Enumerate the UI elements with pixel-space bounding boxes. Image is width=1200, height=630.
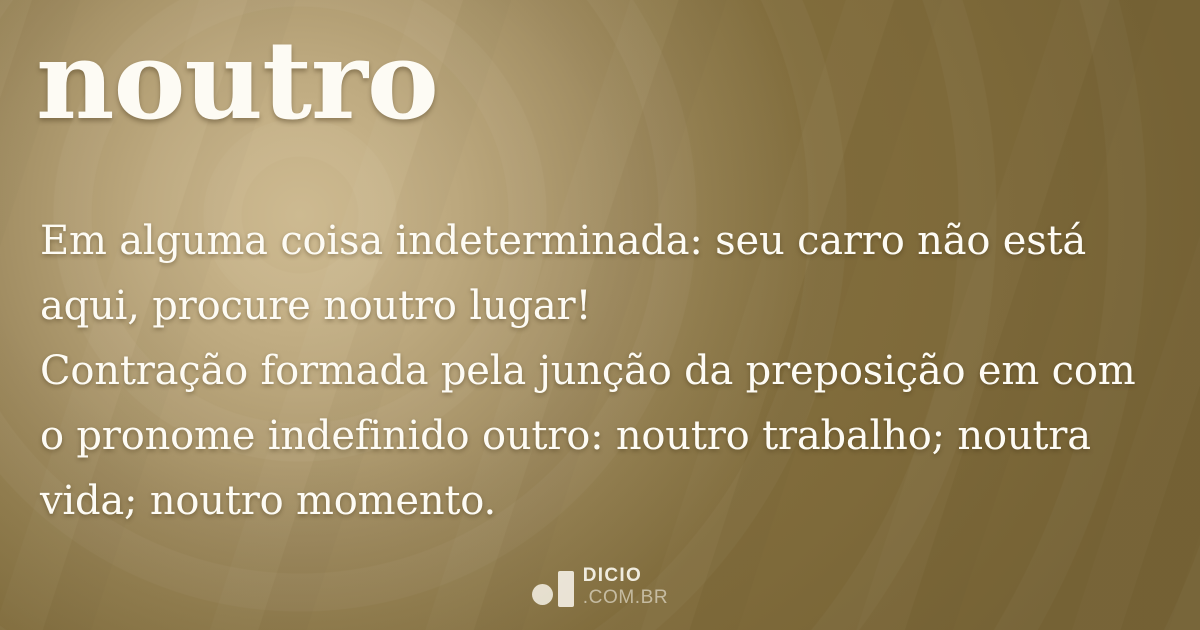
definition-list: Em alguma coisa indeterminada: seu carro…: [40, 209, 1155, 534]
card-content: noutro Em alguma coisa indeterminada: se…: [0, 0, 1200, 630]
definition-item: Contração formada pela junção da preposi…: [40, 339, 1155, 534]
definition-item: Em alguma coisa indeterminada: seu carro…: [40, 209, 1155, 339]
site-logo[interactable]: DICIO .COM.BR: [0, 563, 1200, 609]
dictionary-card: noutro Em alguma coisa indeterminada: se…: [0, 0, 1200, 630]
logo-name-text: DICIO: [583, 566, 668, 585]
logo-mark-icon: [532, 563, 574, 609]
logo-tld-text: .COM.BR: [583, 588, 668, 607]
logo-bar-icon: [558, 571, 574, 607]
logo-circle-icon: [532, 584, 553, 605]
page-title: noutro: [36, 18, 438, 145]
logo-wordmark: DICIO .COM.BR: [583, 566, 668, 607]
